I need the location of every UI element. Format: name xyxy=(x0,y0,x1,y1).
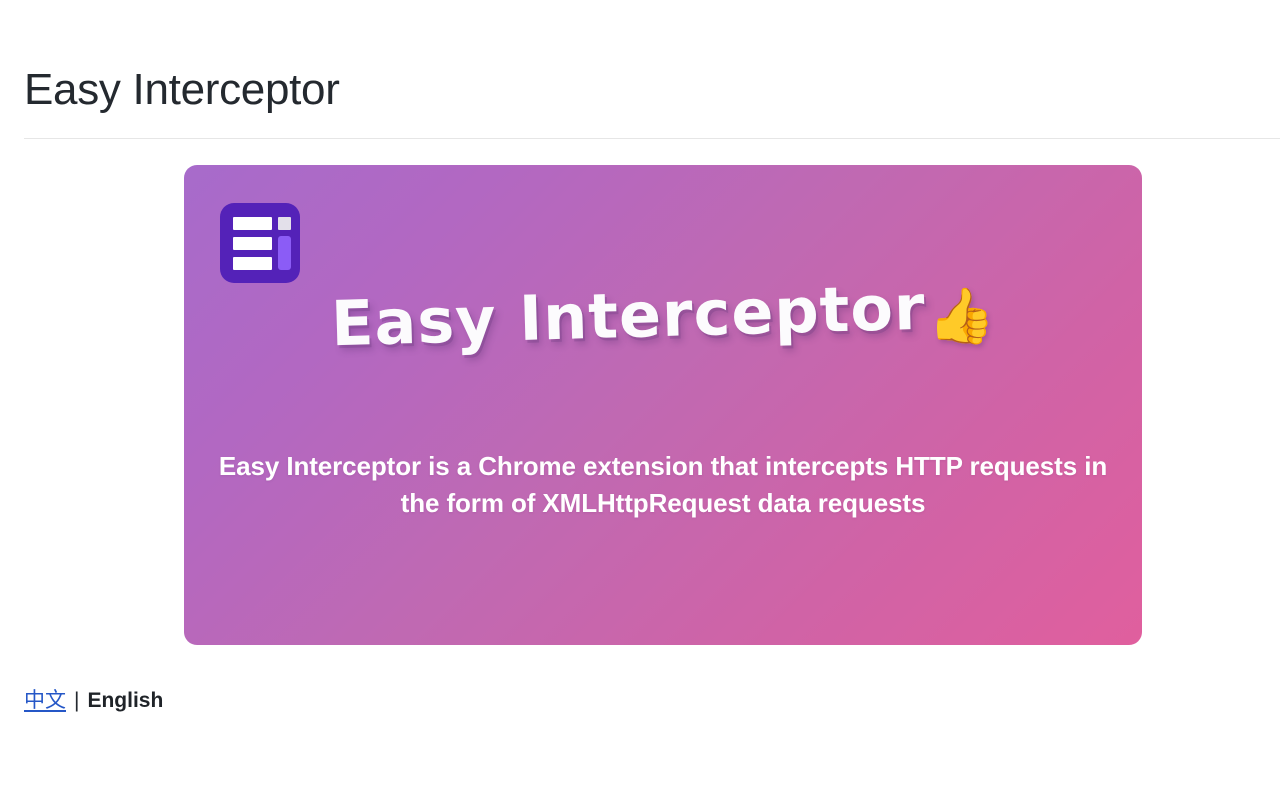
logo-i-dot xyxy=(278,217,291,230)
promo-banner: Easy Interceptor 👍 Easy Interceptor is a… xyxy=(184,165,1142,645)
page-title: Easy Interceptor xyxy=(24,0,1256,118)
logo-bar-top xyxy=(233,217,272,230)
header-divider xyxy=(24,138,1280,139)
thumbs-up-icon: 👍 xyxy=(927,284,996,349)
language-switcher: 中文 | English xyxy=(24,686,163,716)
page-root: Easy Interceptor Easy Interceptor 👍 Easy… xyxy=(0,0,1280,800)
page-header: Easy Interceptor xyxy=(0,0,1280,118)
banner-title: Easy Interceptor xyxy=(330,277,926,356)
banner-title-container: Easy Interceptor 👍 xyxy=(184,261,1142,371)
language-link-english[interactable]: English xyxy=(87,686,163,716)
language-link-chinese[interactable]: 中文 xyxy=(24,686,66,716)
banner-description: Easy Interceptor is a Chrome extension t… xyxy=(213,448,1113,522)
language-separator: | xyxy=(74,686,79,716)
logo-bar-middle xyxy=(233,237,272,250)
